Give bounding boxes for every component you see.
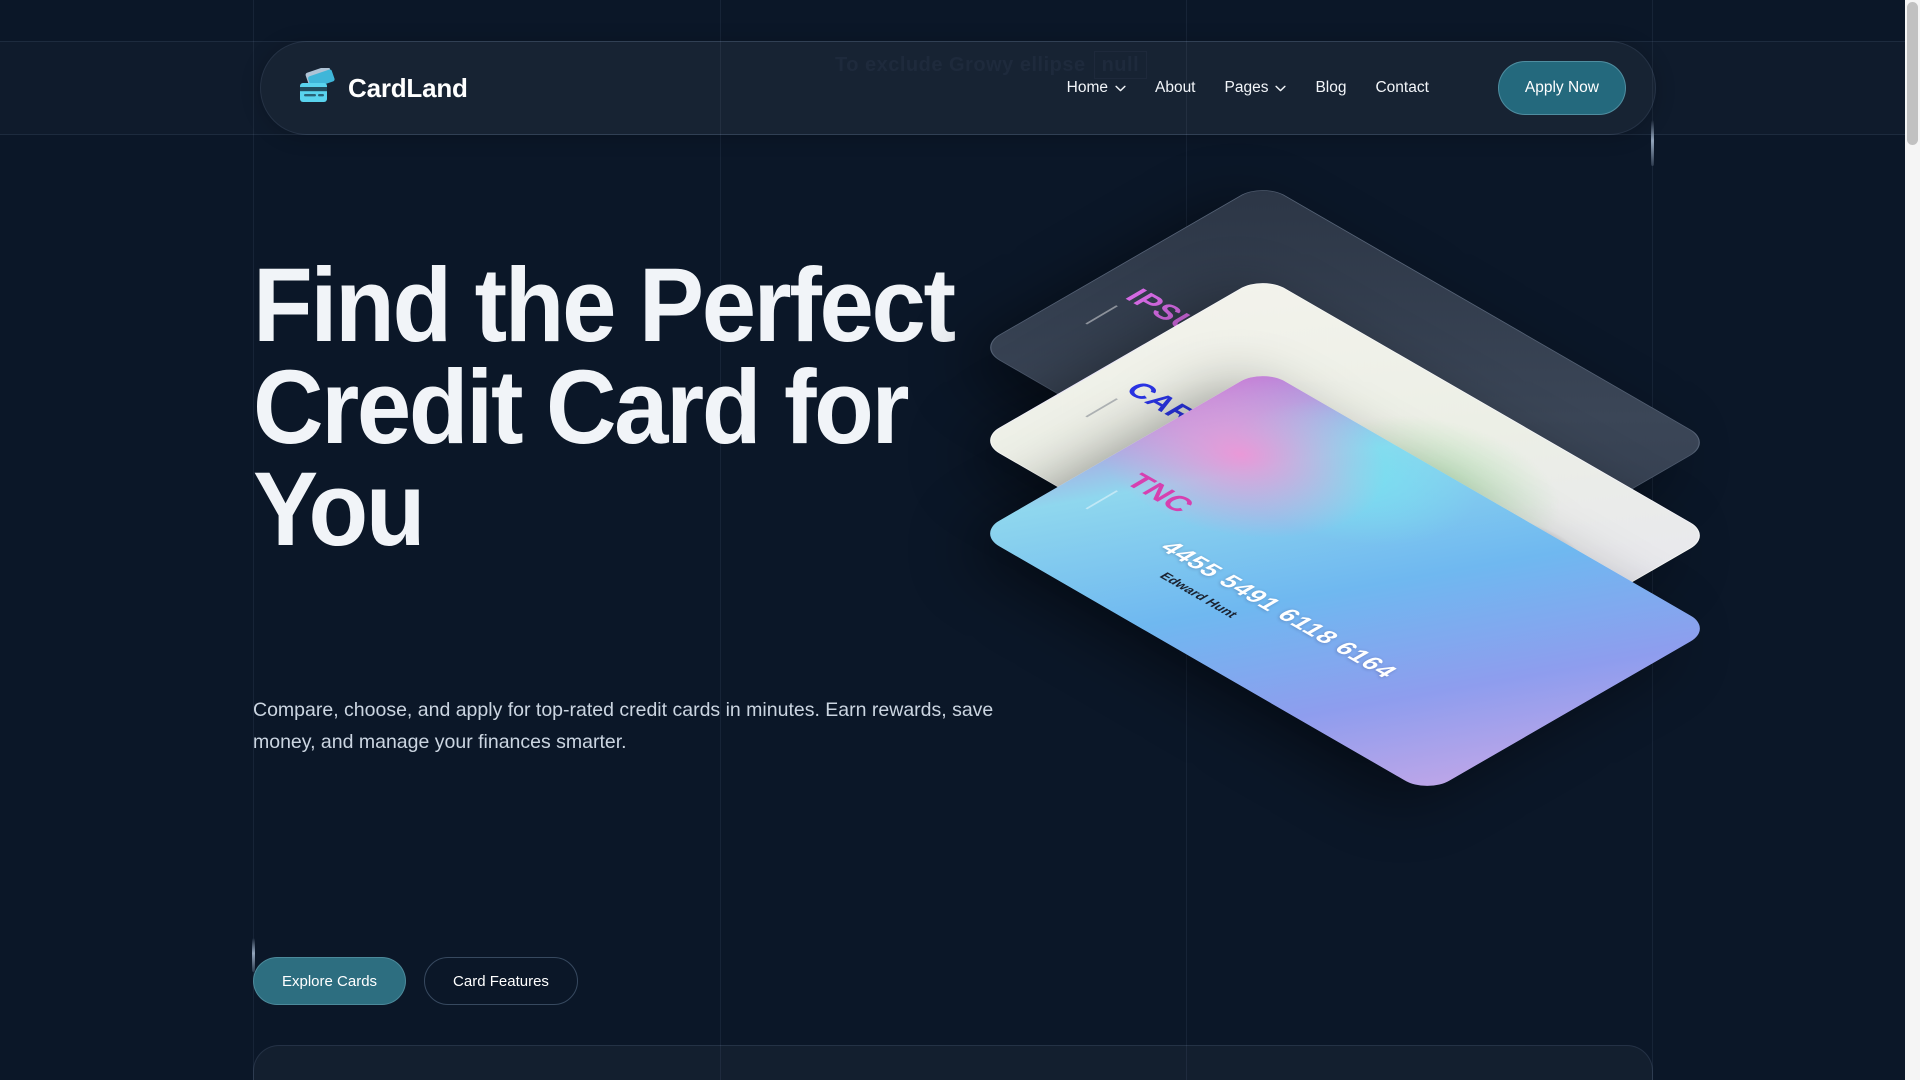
nav-item-home-label: Home: [1067, 79, 1108, 97]
nav-item-home[interactable]: Home: [1067, 79, 1126, 97]
chevron-down-icon: [1115, 85, 1126, 92]
apply-now-button[interactable]: Apply Now: [1498, 61, 1626, 115]
nav-item-contact[interactable]: Contact: [1375, 79, 1428, 97]
card-features-button[interactable]: Card Features: [424, 957, 578, 1005]
hero-subtitle: Compare, choose, and apply for top-rated…: [253, 695, 1043, 758]
credit-card-stack-illustration: IPSUM 4455 5491 6118 6164 Edward Hunt CA…: [1085, 230, 1645, 790]
nav-item-about[interactable]: About: [1155, 79, 1196, 97]
explore-cards-button[interactable]: Explore Cards: [253, 957, 406, 1005]
apply-now-label: Apply Now: [1525, 79, 1599, 97]
page-scrollbar[interactable]: [1905, 0, 1920, 1080]
credit-card-tnc-number: 4455 5491 6118 6164: [1153, 538, 1404, 683]
nav-item-blog[interactable]: Blog: [1315, 79, 1346, 97]
scrollbar-thumb[interactable]: [1907, 2, 1918, 145]
explore-cards-label: Explore Cards: [282, 973, 377, 990]
nav-links: Home About Pages Blog Contact Apply Now: [1067, 61, 1655, 115]
nav-item-about-label: About: [1155, 79, 1196, 97]
nav-item-blog-label: Blog: [1315, 79, 1346, 97]
nav-item-contact-label: Contact: [1375, 79, 1428, 97]
nav-item-pages[interactable]: Pages: [1225, 79, 1287, 97]
next-section-panel: [253, 1045, 1653, 1080]
card-features-label: Card Features: [453, 973, 549, 990]
hero-cta-row: Explore Cards Card Features: [253, 957, 578, 1005]
navbar: CardLand Home About Pages Blog Contact A…: [260, 41, 1656, 135]
brand-logo-link[interactable]: CardLand: [296, 68, 468, 108]
brand-name: CardLand: [348, 73, 468, 104]
nav-item-pages-label: Pages: [1225, 79, 1269, 97]
credit-cards-icon: [296, 68, 336, 108]
hero-section: Find the Perfect Credit Card for You Com…: [0, 135, 1920, 1045]
credit-card-tnc-brand: TNC: [1117, 470, 1201, 518]
hero-headline: Find the Perfect Credit Card for You: [253, 255, 1016, 561]
chevron-down-icon: [1275, 85, 1286, 92]
